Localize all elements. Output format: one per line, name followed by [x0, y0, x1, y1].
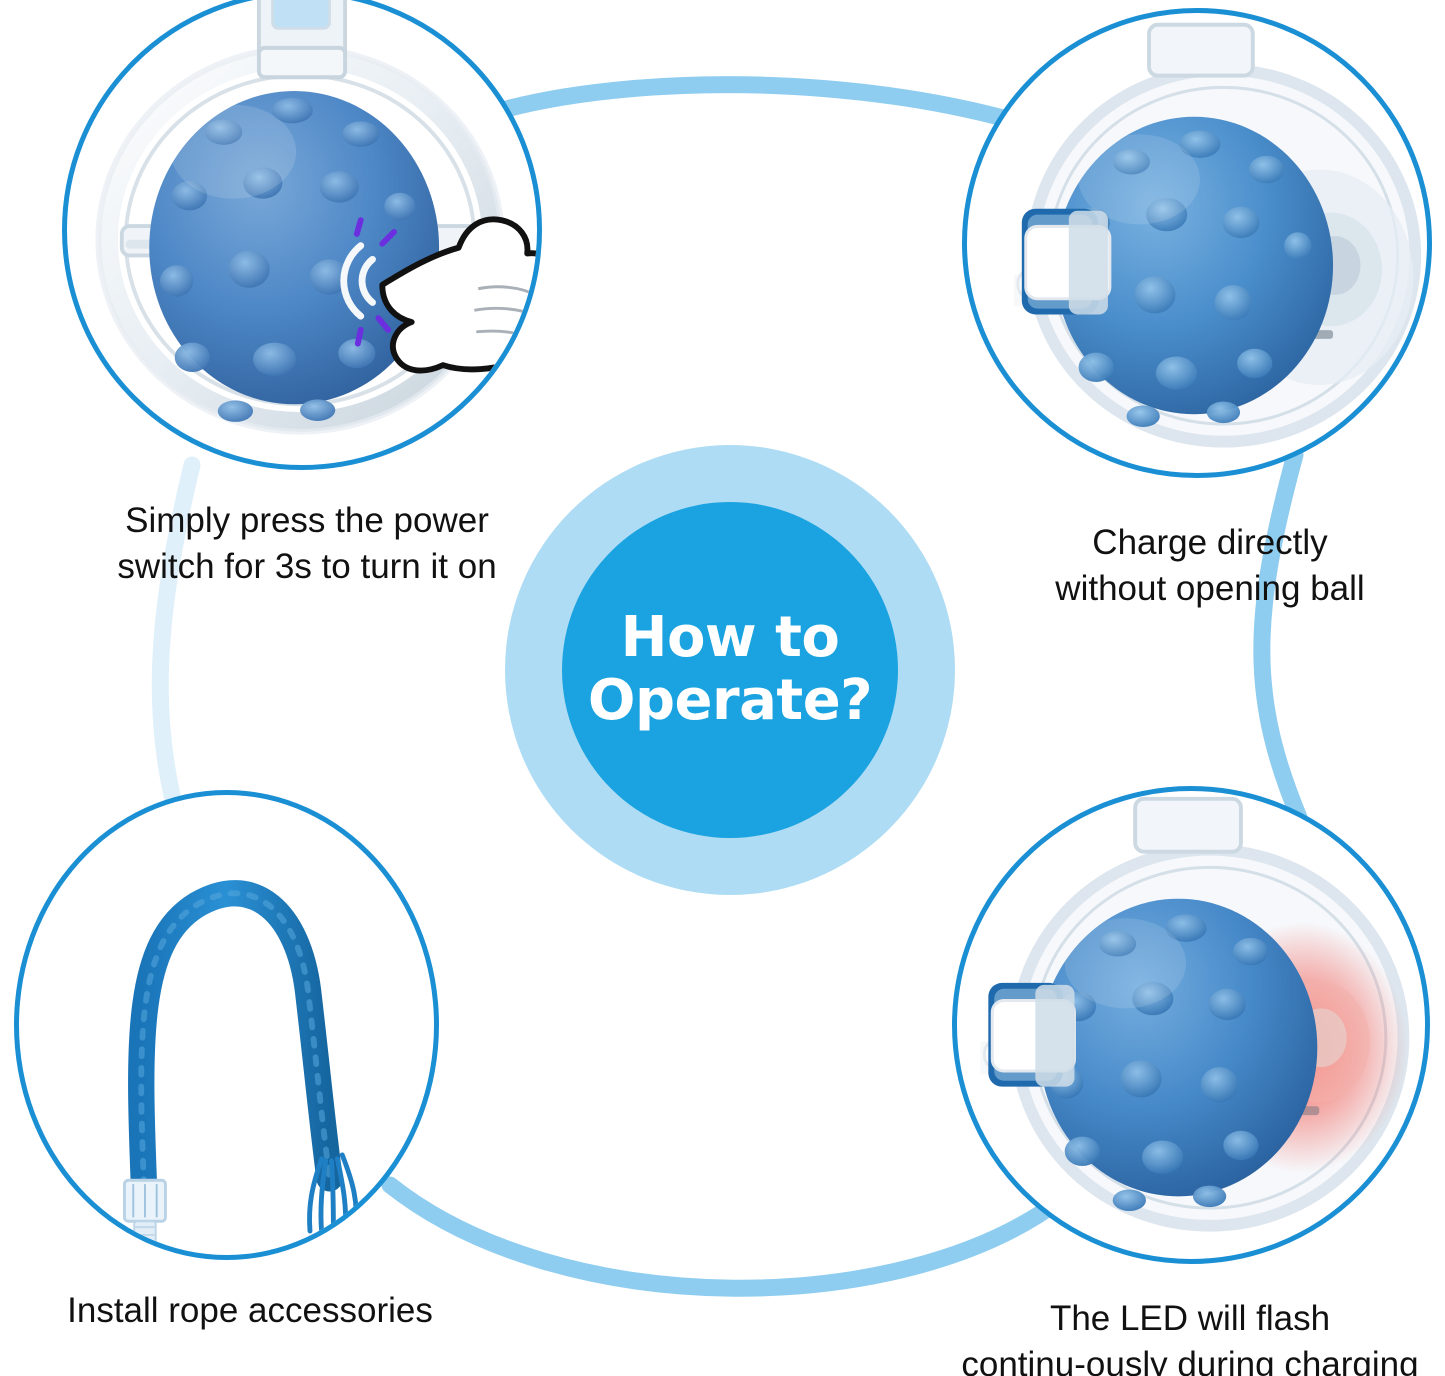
- caption-rope: Install rope accessories: [30, 1288, 470, 1334]
- step-led-photo: [952, 786, 1430, 1264]
- rope-icon: [141, 893, 329, 1186]
- step-power-on-photo: [62, 0, 542, 470]
- blue-ball-icon: [149, 91, 439, 422]
- center-hub-disc: How to Operate?: [562, 502, 898, 838]
- usb-cable-icon: [1014, 209, 1110, 315]
- caption-led: The LED will flash continu-ously during …: [940, 1296, 1440, 1376]
- usb-cable-icon: [980, 983, 1074, 1087]
- infographic-canvas: How to Operate?: [0, 0, 1445, 1376]
- step-rope-photo: [14, 790, 439, 1260]
- caption-power-on: Simply press the power switch for 3s to …: [92, 498, 522, 589]
- connector-right-arc: [1262, 455, 1300, 820]
- connector-bottom-arc: [390, 1185, 1060, 1288]
- caption-charge: Charge directly without opening ball: [1000, 520, 1420, 611]
- step-charge-photo: [962, 8, 1432, 478]
- center-hub: How to Operate?: [505, 445, 955, 895]
- page-title: How to Operate?: [574, 607, 886, 732]
